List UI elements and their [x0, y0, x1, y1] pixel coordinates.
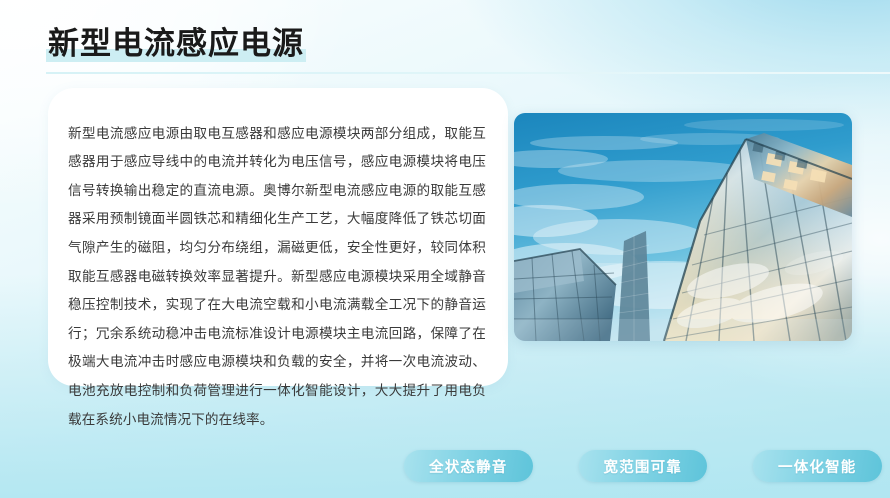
header-divider: [46, 72, 890, 74]
description-paragraph: 新型电流感应电源由取电互感器和感应电源模块两部分组成，取能互感器用于感应导线中的…: [68, 120, 486, 435]
feature-pill-integrated-smart[interactable]: 一体化智能: [753, 450, 882, 482]
page-title-text: 新型电流感应电源: [48, 26, 304, 62]
feature-pill-list: 全状态静音 宽范围可靠 一体化智能: [404, 450, 882, 482]
page-header: 新型电流感应电源: [46, 24, 866, 78]
feature-pill-wide-range[interactable]: 宽范围可靠: [579, 450, 708, 482]
feature-pill-label: 一体化智能: [778, 456, 857, 477]
feature-pill-label: 宽范围可靠: [604, 456, 683, 477]
product-feature-page: 新型电流感应电源 新型电流感应电源由取电互感器和感应电源模块两部分组成，取能互感…: [0, 0, 890, 498]
page-title: 新型电流感应电源: [46, 24, 306, 64]
glass-building-illustration: [514, 113, 852, 341]
hero-image: [514, 113, 852, 341]
feature-pill-silent[interactable]: 全状态静音: [404, 450, 533, 482]
feature-pill-label: 全状态静音: [429, 456, 508, 477]
description-card: 新型电流感应电源由取电互感器和感应电源模块两部分组成，取能互感器用于感应导线中的…: [48, 88, 508, 386]
